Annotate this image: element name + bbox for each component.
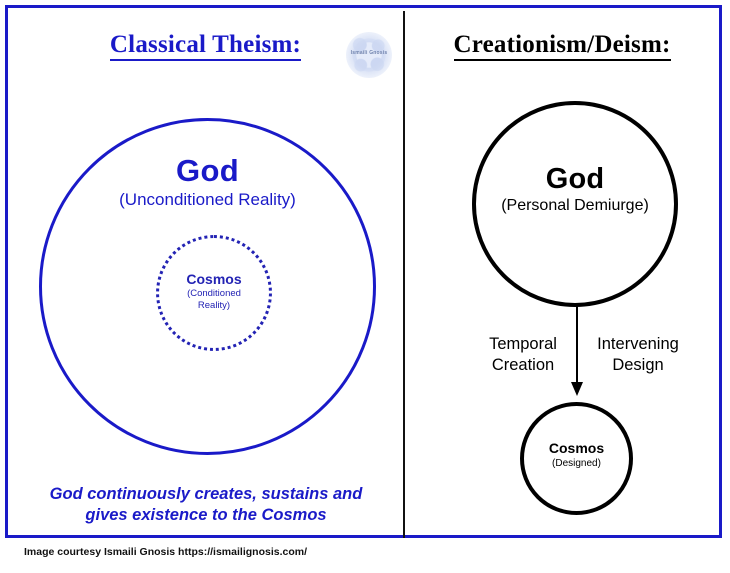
- creation-arrow-icon: [571, 306, 583, 398]
- cosmos-circle-conditioned-reality: Cosmos (Conditioned Reality): [156, 235, 272, 351]
- diagram-frame: Classical Theism: God (Unconditioned Rea…: [5, 5, 722, 538]
- god-descriptor-left: (Unconditioned Reality): [42, 190, 373, 210]
- god-label-right: God: [476, 163, 674, 196]
- panel-classical-theism: Classical Theism: God (Unconditioned Rea…: [8, 8, 403, 535]
- god-label-group-left: God (Unconditioned Reality): [42, 153, 373, 209]
- cosmos-descriptor-left-line1: (Conditioned: [159, 288, 269, 299]
- god-label-group-right: God (Personal Demiurge): [476, 163, 674, 216]
- cosmos-descriptor-right: (Designed): [524, 458, 629, 470]
- cosmos-label-group-left: Cosmos (Conditioned Reality): [159, 271, 269, 312]
- arrow-label-intervening-design: Intervening Design: [586, 334, 690, 375]
- arrow-label-temporal-creation: Temporal Creation: [477, 334, 569, 375]
- temporal-creation-line2: Creation: [477, 355, 569, 376]
- panel-title-creationism-deism-text: Creationism/Deism:: [454, 31, 671, 61]
- temporal-creation-line1: Temporal: [477, 334, 569, 355]
- caption-line-2: gives existence to the Cosmos: [22, 505, 390, 526]
- cosmos-label-right: Cosmos: [524, 440, 629, 456]
- panel-title-creationism-deism: Creationism/Deism:: [405, 31, 719, 59]
- cosmos-descriptor-left-line2: Reality): [159, 300, 269, 311]
- caption-line-1: God continuously creates, sustains and: [22, 484, 390, 505]
- footer-credit: Image courtesy Ismaili Gnosis https://is…: [24, 546, 307, 558]
- arrow-shaft: [576, 306, 578, 386]
- classical-theism-caption: God continuously creates, sustains and g…: [22, 484, 390, 527]
- god-label-left: God: [42, 153, 373, 189]
- intervening-design-line2: Design: [586, 355, 690, 376]
- cosmos-label-left: Cosmos: [159, 271, 269, 287]
- cosmos-circle-designed: Cosmos (Designed): [520, 402, 633, 515]
- ismaili-gnosis-logo-icon: Ismaili Gnosis: [346, 32, 392, 78]
- intervening-design-line1: Intervening: [586, 334, 690, 355]
- god-circle-personal-demiurge: God (Personal Demiurge): [472, 101, 678, 307]
- god-descriptor-right: (Personal Demiurge): [476, 197, 674, 215]
- brand-logo-text: Ismaili Gnosis: [346, 50, 392, 56]
- arrow-head: [571, 382, 583, 396]
- cosmos-label-group-right: Cosmos (Designed): [524, 440, 629, 470]
- panel-title-classical-theism-text: Classical Theism:: [110, 31, 301, 61]
